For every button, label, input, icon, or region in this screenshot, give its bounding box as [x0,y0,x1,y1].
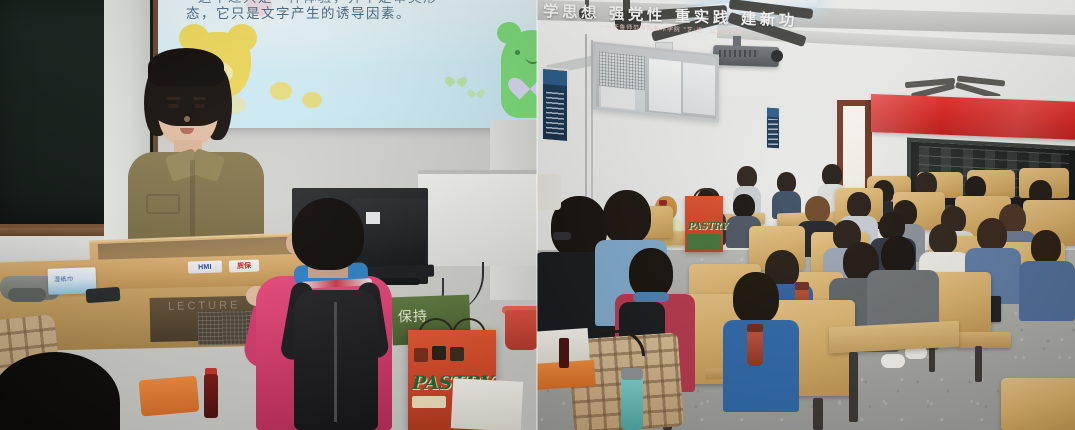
red-thermos [747,330,763,366]
head [777,172,796,193]
seat-leg [813,398,823,430]
blue-collar [633,292,669,302]
bag-graphic [450,347,464,361]
head [822,164,842,186]
sticker-blue-text: HMI [198,263,212,270]
lower-whiteboard [418,170,537,266]
notice-text-lines [546,89,564,135]
white-napkin [451,378,524,430]
wall-notice-left [541,67,569,143]
seat-leg [849,352,858,422]
head [737,166,757,188]
head [733,194,755,218]
heart-icon [515,68,537,94]
sauce-bottle [204,374,218,418]
bag-graphic [687,234,721,250]
window-pane [683,62,715,115]
chest-pocket [146,194,180,214]
bag-graphic [414,348,428,362]
head [805,196,830,223]
head [929,224,957,254]
red-bucket [505,310,537,350]
sauce-bottle [559,338,569,368]
tissue-box-label: 湿纸巾 [54,274,74,284]
head [977,218,1007,251]
lectern-sticker-blue: HMI [188,260,222,273]
white-sneaker [881,354,905,368]
pastry-bag-label: PASTRY [688,222,728,232]
backpack-zipper [334,302,337,422]
desk-front-text: LECTURE [168,299,241,313]
eye-right [194,104,205,108]
flower-petal-icon [302,92,322,108]
projector-vent [719,50,759,57]
cleaning-rag-fold [8,288,46,302]
head [733,272,779,324]
eyeglasses [553,232,571,240]
banner-sheen [871,94,1075,140]
notice-header [543,69,567,86]
eye-left [168,104,179,108]
eyebrow-right [193,97,206,100]
photo-composite: 这不过只是一种体验，并不是审美形 态，它只是文字产生的诱导因素。 [0,0,1075,430]
seat-back [1001,378,1075,430]
red-slogan-banner [871,94,1075,140]
head [1031,230,1061,264]
right-photo-panel: 学思想 强党性 重实践 建新功 ——齐鲁师范学院美术学院 "艺·道" 公益国学堂 [537,0,1075,430]
wall-ac-unit [601,86,635,110]
bottle-cap [795,282,809,290]
notice-text-lines [768,119,777,145]
projector-lens [771,50,783,62]
hair-bun [148,48,224,86]
foreground-student [250,198,390,430]
panel-seam [536,0,538,430]
heart-icon [470,86,482,96]
orange-cloth [139,376,200,417]
bottle-cap [621,368,643,380]
torso [1019,261,1075,321]
eyebrow-left [167,97,180,100]
head [847,192,871,218]
wall-notice-center [765,106,781,151]
bag-graphic [432,346,446,360]
head [629,248,673,298]
teal-water-bottle [621,376,643,430]
seat-cushion [957,332,1011,348]
heart-icon [448,72,463,85]
green-bear-icon [495,14,537,122]
head [881,236,915,274]
bear-eye-left [515,50,520,55]
window-pane [649,58,681,113]
head-back-view [292,198,364,270]
bag-badge [412,396,446,408]
seat-leg [975,346,982,382]
left-photo-panel: 这不过只是一种体验，并不是审美形 态，它只是文字产生的诱导因素。 [0,0,537,430]
notice-header [767,108,779,117]
cup-on-desk [537,174,561,210]
slide-text-line-2: 态，它只是文字产生的诱导因素。 [186,2,411,22]
head [603,190,651,244]
window-security-mesh [599,52,645,91]
nose [184,116,190,122]
bottle-cap [659,200,667,205]
bottle-cap [747,324,763,332]
board-eraser [86,287,121,303]
